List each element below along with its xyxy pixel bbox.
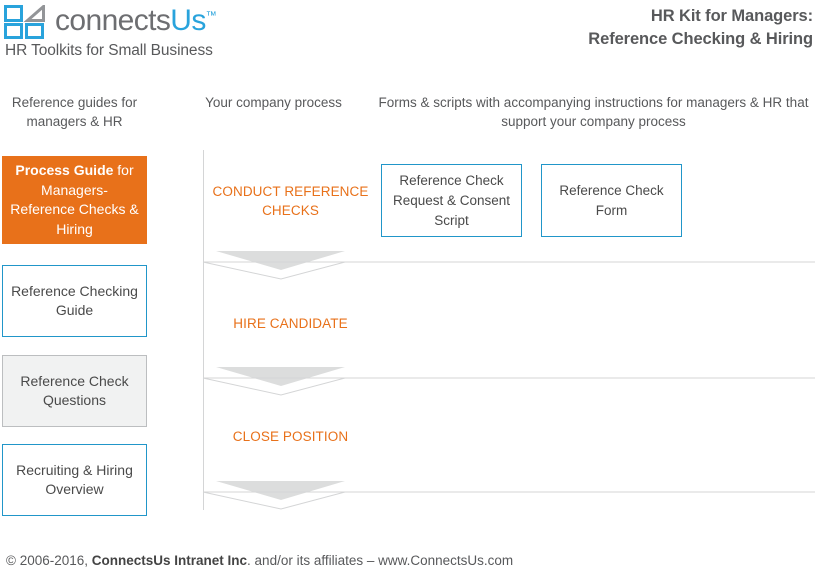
logo-row: connectsUs™ — [4, 4, 324, 39]
page-title-line-1: HR Kit for Managers: — [588, 5, 813, 28]
sidebar-card-process-guide[interactable]: Process Guide for Managers- Reference Ch… — [2, 156, 147, 244]
logo-word-connects: connects — [55, 4, 170, 37]
footer-suffix: . and/or its affiliates – www.ConnectsUs… — [247, 553, 513, 568]
brand-logo-block: connectsUs™ HR Toolkits for Small Busine… — [4, 4, 324, 60]
process-step-hire-candidate: HIRE CANDIDATE — [203, 314, 378, 333]
sidebar-card-recruiting-hiring-overview[interactable]: Recruiting & Hiring Overview — [2, 444, 147, 516]
column-heading-guides: Reference guides for managers & HR — [0, 93, 149, 131]
brand-tagline: HR Toolkits for Small Business — [5, 42, 324, 60]
sidebar-card-reference-check-questions[interactable]: Reference Check Questions — [2, 355, 147, 427]
process-divider-chevron-3 — [196, 478, 815, 512]
process-step-close-position: CLOSE POSITION — [203, 427, 378, 446]
copyright-footer: © 2006-2016, ConnectsUs Intranet Inc. an… — [6, 553, 513, 568]
footer-company: ConnectsUs Intranet Inc — [92, 553, 247, 568]
sidebar-card-recruiting-hiring-overview-label: Recruiting & Hiring Overview — [11, 461, 138, 500]
sidebar-card-reference-check-questions-label: Reference Check Questions — [11, 372, 138, 411]
connectsus-squares-logo-icon — [4, 5, 48, 39]
sidebar-card-process-guide-label: Process Guide for Managers- Reference Ch… — [10, 161, 139, 239]
footer-prefix: © 2006-2016, — [6, 553, 92, 568]
trademark-icon: ™ — [206, 10, 216, 22]
sidebar-card-process-guide-bold: Process Guide — [15, 162, 113, 178]
hr-kit-diagram-page: connectsUs™ HR Toolkits for Small Busine… — [0, 0, 815, 575]
form-box-reference-check-form[interactable]: Reference Check Form — [541, 164, 682, 237]
form-box-reference-check-form-label: Reference Check Form — [548, 181, 675, 221]
form-box-reference-check-request-consent-script-label: Reference Check Request & Consent Script — [388, 171, 515, 231]
page-title: HR Kit for Managers: Reference Checking … — [588, 5, 813, 51]
column-heading-process: Your company process — [186, 93, 361, 112]
process-divider-chevron-1 — [196, 248, 815, 282]
logo-wordmark: connectsUs™ — [55, 4, 216, 38]
logo-word-us: Us — [170, 4, 205, 37]
process-step-conduct-reference-checks: CONDUCT REFERENCE CHECKS — [203, 182, 378, 220]
form-box-reference-check-request-consent-script[interactable]: Reference Check Request & Consent Script — [381, 164, 522, 237]
sidebar-card-reference-checking-guide-label: Reference Checking Guide — [11, 282, 138, 321]
sidebar-card-reference-checking-guide[interactable]: Reference Checking Guide — [2, 265, 147, 337]
page-title-line-2: Reference Checking & Hiring — [588, 28, 813, 51]
column-heading-forms: Forms & scripts with accompanying instru… — [372, 93, 815, 131]
process-divider-chevron-2 — [196, 364, 815, 398]
